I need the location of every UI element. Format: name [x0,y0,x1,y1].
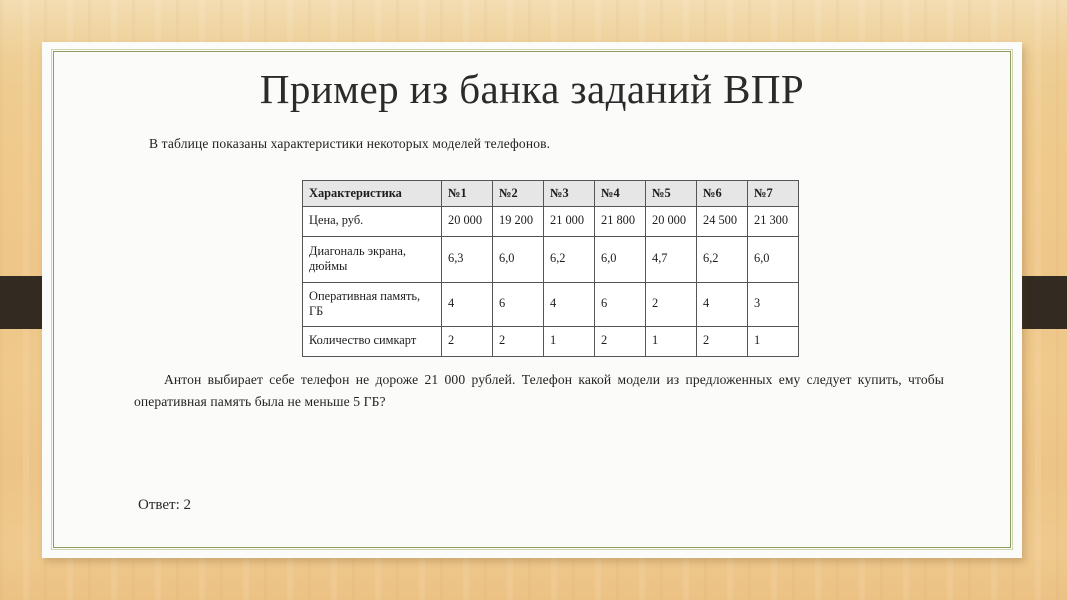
table-cell: 6,3 [442,236,493,282]
table-cell: 2 [697,326,748,356]
table-cell: 3 [748,282,799,326]
table-cell: 1 [748,326,799,356]
table-cell: 19 200 [493,206,544,236]
page-title: Пример из банка заданий ВПР [42,68,1022,111]
table-header-cell: №6 [697,181,748,207]
table-cell: 6,0 [493,236,544,282]
table-cell: 20 000 [442,206,493,236]
table-header-cell: №2 [493,181,544,207]
table-cell: 2 [646,282,697,326]
table-header-cell: №7 [748,181,799,207]
table-cell: 21 000 [544,206,595,236]
table-cell: 6,0 [595,236,646,282]
table-cell: 4 [697,282,748,326]
table-cell: 2 [493,326,544,356]
row-label: Количество симкарт [303,326,442,356]
table-cell: 4 [544,282,595,326]
table-header-cell: №1 [442,181,493,207]
row-label: Диагональ экрана, дюймы [303,236,442,282]
table-cell: 4,7 [646,236,697,282]
table-row: Диагональ экрана, дюймы 6,3 6,0 6,2 6,0 … [303,236,799,282]
answer-label: Ответ: [138,497,180,513]
phone-specs-table: Характеристика №1 №2 №3 №4 №5 №6 №7 Цена… [302,180,799,357]
table-cell: 1 [544,326,595,356]
table-cell: 6 [493,282,544,326]
table-cell: 4 [442,282,493,326]
table-cell: 1 [646,326,697,356]
table-header-cell: №3 [544,181,595,207]
slide-panel: Пример из банка заданий ВПР В таблице по… [42,42,1022,558]
table-cell: 2 [595,326,646,356]
answer-value: 2 [184,497,192,513]
row-label: Оперативная память, ГБ [303,282,442,326]
intro-text: В таблице показаны характеристики некото… [149,136,550,152]
table-cell: 21 300 [748,206,799,236]
table-cell: 20 000 [646,206,697,236]
table-cell: 6,0 [748,236,799,282]
table-row: Цена, руб. 20 000 19 200 21 000 21 800 2… [303,206,799,236]
table-cell: 24 500 [697,206,748,236]
question-paragraph: Антон выбирает себе телефон не дороже 21… [134,369,944,413]
table-row: Количество симкарт 2 2 1 2 1 2 1 [303,326,799,356]
table-header-row: Характеристика №1 №2 №3 №4 №5 №6 №7 [303,181,799,207]
phone-specs-table-container: Характеристика №1 №2 №3 №4 №5 №6 №7 Цена… [302,180,799,357]
table-cell: 21 800 [595,206,646,236]
answer-line: Ответ: 2 [138,497,191,514]
table-header-cell: №4 [595,181,646,207]
table-cell: 6 [595,282,646,326]
table-header-cell: Характеристика [303,181,442,207]
table-cell: 2 [442,326,493,356]
row-label: Цена, руб. [303,206,442,236]
table-header-cell: №5 [646,181,697,207]
table-cell: 6,2 [544,236,595,282]
table-row: Оперативная память, ГБ 4 6 4 6 2 4 3 [303,282,799,326]
table-cell: 6,2 [697,236,748,282]
slide-content: Пример из банка заданий ВПР В таблице по… [42,42,1022,558]
